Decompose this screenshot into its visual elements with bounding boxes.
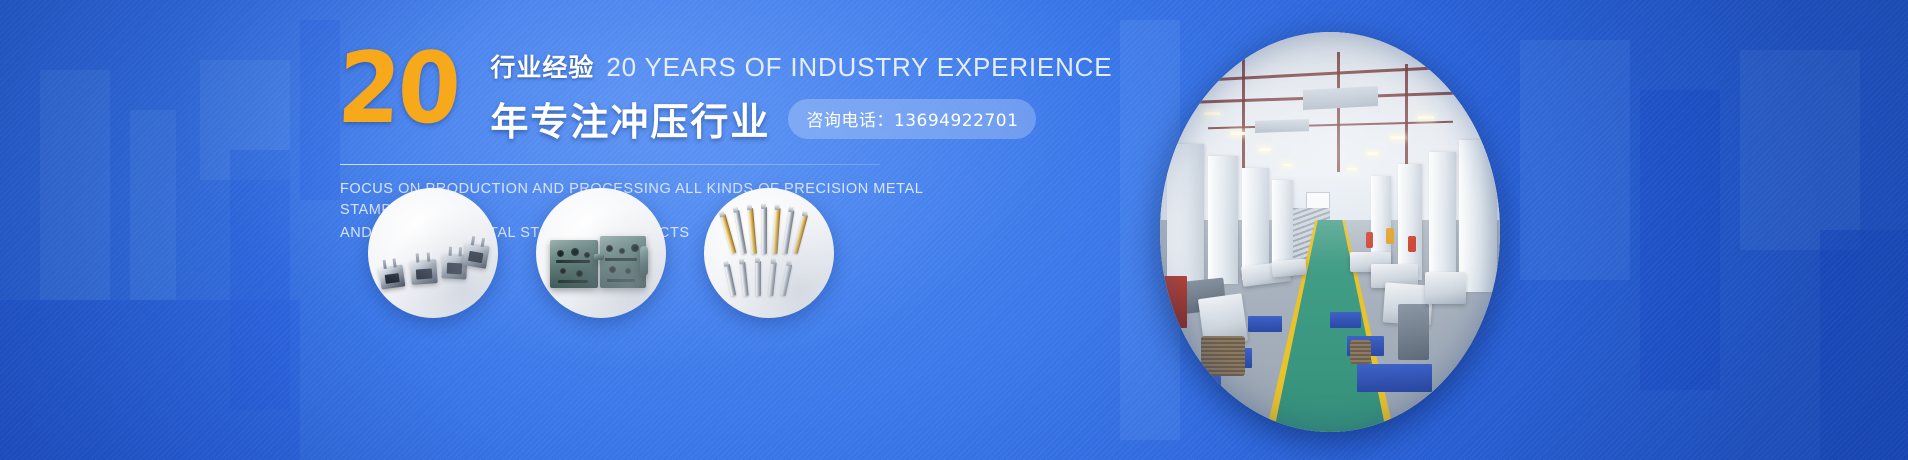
product-circle-mold[interactable] (536, 188, 666, 318)
product-circle-list (368, 188, 872, 318)
phone-badge-label: 咨询电话：13694922701 (806, 106, 1018, 131)
headline-titles: 行业经验 20 YEARS OF INDUSTRY EXPERIENCE 年专注… (490, 42, 1112, 146)
phone-badge[interactable]: 咨询电话：13694922701 (788, 99, 1036, 139)
chinese-headline: 年专注冲压行业 (490, 91, 770, 146)
promo-banner: 20 行业经验 20 YEARS OF INDUSTRY EXPERIENCE … (0, 0, 1908, 460)
factory-photo-wrap (1160, 32, 1500, 432)
chinese-tag: 行业经验 (490, 48, 594, 84)
english-headline: 20 YEARS OF INDUSTRY EXPERIENCE (606, 52, 1112, 83)
headline-line-2: 年专注冲压行业 咨询电话：13694922701 (490, 91, 1112, 146)
product-circle-connectors[interactable] (368, 188, 498, 318)
headline-line-1: 行业经验 20 YEARS OF INDUSTRY EXPERIENCE (490, 48, 1112, 84)
factory-photo[interactable] (1160, 32, 1500, 432)
years-number: 20 (336, 46, 460, 132)
headline-row: 20 行业经验 20 YEARS OF INDUSTRY EXPERIENCE … (340, 42, 1100, 146)
product-circle-pins[interactable] (704, 188, 834, 318)
headline-divider (340, 164, 880, 165)
